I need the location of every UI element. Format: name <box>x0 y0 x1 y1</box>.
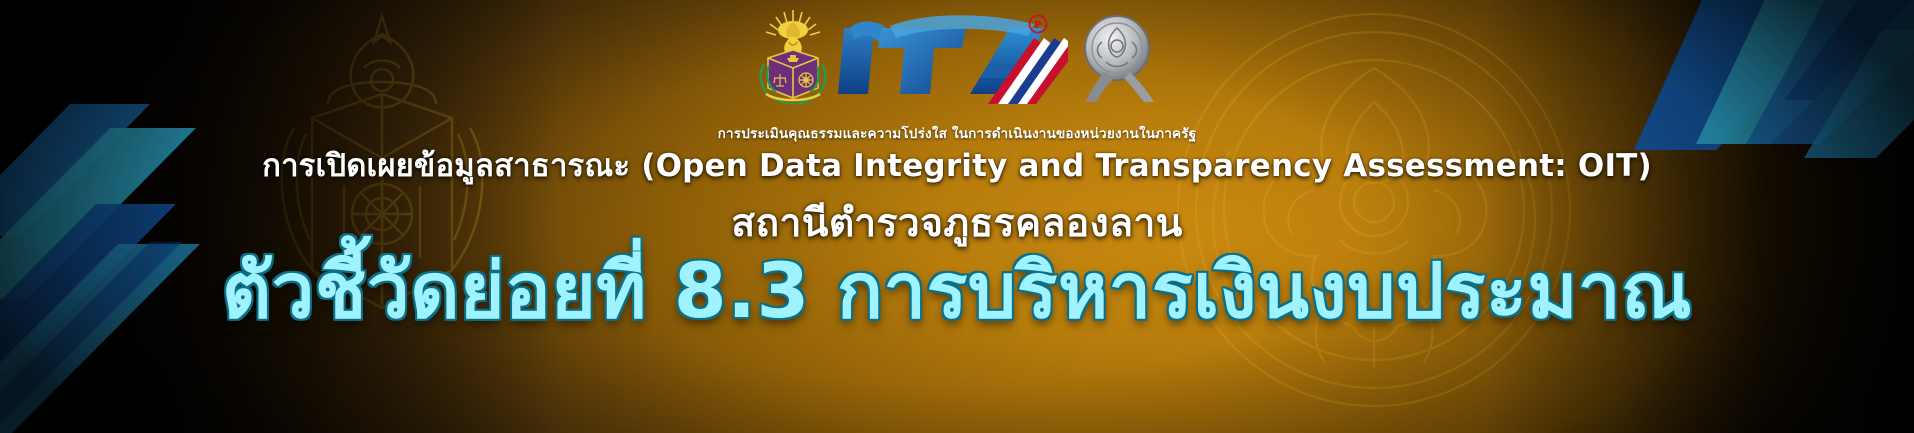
headline-open-data-oit: การเปิดเผยข้อมูลสาธารณะ (Open Data Integ… <box>0 140 1914 190</box>
ita-wordmark-icon: P <box>838 8 1068 104</box>
headline-station-name: สถานีตำรวจภูธรคลองลาน <box>0 192 1914 254</box>
official-silver-seal-icon <box>1074 8 1160 104</box>
ita-oit-banner: P <box>0 0 1914 433</box>
thai-royal-garuda-ministry-emblem-icon <box>754 8 832 104</box>
svg-text:P: P <box>1034 20 1041 31</box>
headline-indicator-title: ตัวชี้วัดย่อยที่ 8.3 การบริหารเงินงบประม… <box>0 248 1914 333</box>
ita-logo-row: P <box>0 8 1914 104</box>
